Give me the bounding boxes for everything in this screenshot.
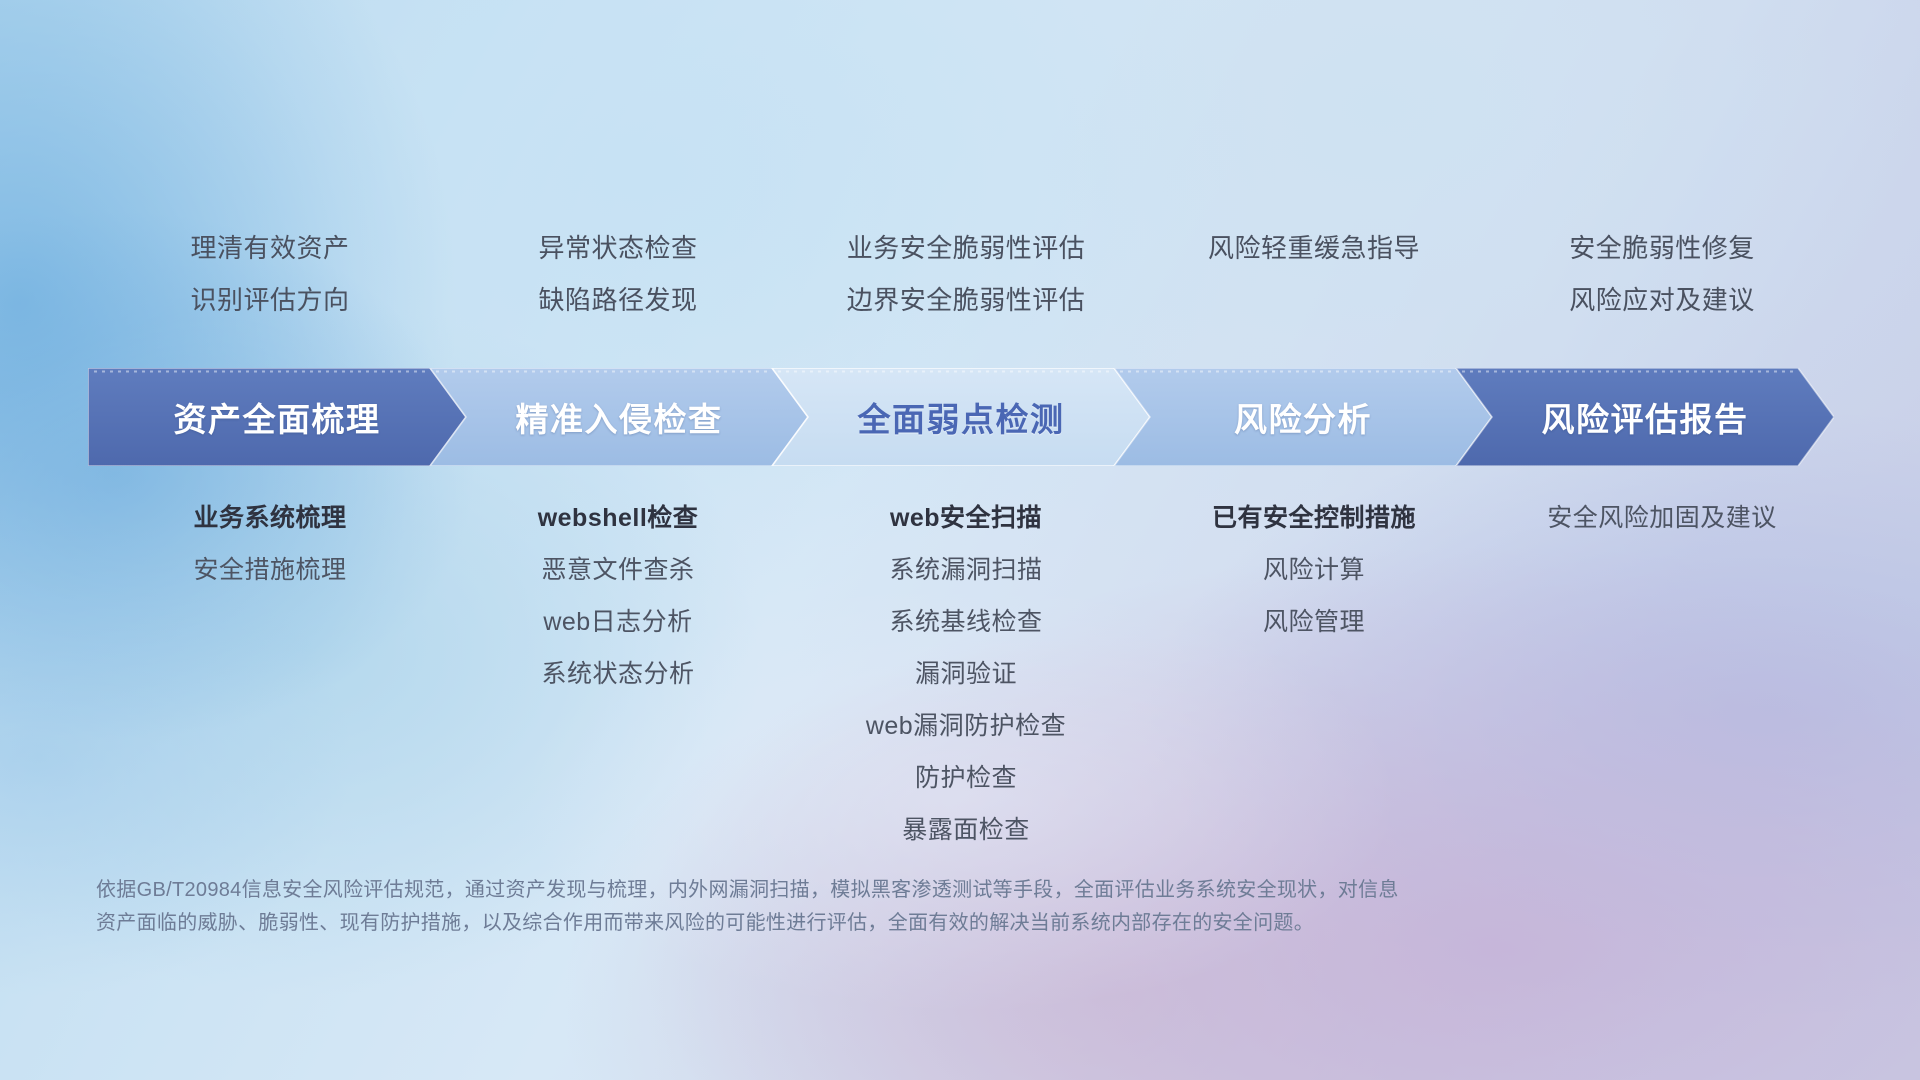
top-caption-item: 风险轻重缓急指导 (1140, 222, 1488, 274)
stage-risk-analysis[interactable]: 风险分析 (1114, 368, 1492, 466)
stage-label: 风险分析 (1234, 393, 1372, 441)
top-caption-item: 异常状态检查 (444, 222, 792, 274)
stage-label: 全面弱点检测 (858, 393, 1065, 441)
footer-description: 依据GB/T20984信息安全风险评估规范，通过资产发现与梳理，内外网漏洞扫描，… (96, 874, 1736, 940)
process-arrow-banner: 资产全面梳理精准入侵检查全面弱点检测风险分析风险评估报告 (88, 368, 1834, 466)
top-caption-weakness-detection: 业务安全脆弱性评估边界安全脆弱性评估 (792, 222, 1140, 326)
stage-label: 资产全面梳理 (174, 393, 381, 441)
top-caption-item: 理清有效资产 (96, 222, 444, 274)
stage-label: 风险评估报告 (1542, 393, 1749, 441)
stage-bottom-lists: 业务系统梳理安全措施梳理webshell检查恶意文件查杀web日志分析系统状态分… (96, 492, 1836, 856)
bottom-list-item: 系统基线检查 (792, 596, 1140, 648)
top-caption-item: 风险应对及建议 (1488, 274, 1836, 326)
bottom-list-item: webshell检查 (444, 492, 792, 544)
bottom-list-item: web安全扫描 (792, 492, 1140, 544)
footer-line-1: 依据GB/T20984信息安全风险评估规范，通过资产发现与梳理，内外网漏洞扫描，… (96, 874, 1736, 907)
stage-risk-report[interactable]: 风险评估报告 (1456, 368, 1834, 466)
top-caption-asset-inventory: 理清有效资产识别评估方向 (96, 222, 444, 326)
top-caption-item: 业务安全脆弱性评估 (792, 222, 1140, 274)
bottom-list-risk-report: 安全风险加固及建议 (1488, 492, 1836, 856)
stage-asset-inventory[interactable]: 资产全面梳理 (88, 368, 466, 466)
bottom-list-weakness-detection: web安全扫描系统漏洞扫描系统基线检查漏洞验证web漏洞防护检查防护检查暴露面检… (792, 492, 1140, 856)
bottom-list-item: 已有安全控制措施 (1140, 492, 1488, 544)
top-caption-item: 边界安全脆弱性评估 (792, 274, 1140, 326)
stage-weakness-detection[interactable]: 全面弱点检测 (772, 368, 1150, 466)
stage-top-captions: 理清有效资产识别评估方向异常状态检查缺陷路径发现业务安全脆弱性评估边界安全脆弱性… (96, 222, 1836, 326)
bottom-list-item: web漏洞防护检查 (792, 700, 1140, 752)
bottom-list-item: 系统漏洞扫描 (792, 544, 1140, 596)
bottom-list-item: 安全措施梳理 (96, 544, 444, 596)
bottom-list-intrusion-check: webshell检查恶意文件查杀web日志分析系统状态分析 (444, 492, 792, 856)
process-diagram: 理清有效资产识别评估方向异常状态检查缺陷路径发现业务安全脆弱性评估边界安全脆弱性… (0, 0, 1920, 1080)
bottom-list-item: 业务系统梳理 (96, 492, 444, 544)
bottom-list-item: 漏洞验证 (792, 648, 1140, 700)
top-caption-risk-report: 安全脆弱性修复风险应对及建议 (1488, 222, 1836, 326)
bottom-list-item: 恶意文件查杀 (444, 544, 792, 596)
bottom-list-item: web日志分析 (444, 596, 792, 648)
top-caption-item: 缺陷路径发现 (444, 274, 792, 326)
bottom-list-item: 风险计算 (1140, 544, 1488, 596)
top-caption-risk-analysis: 风险轻重缓急指导 (1140, 222, 1488, 326)
top-caption-intrusion-check: 异常状态检查缺陷路径发现 (444, 222, 792, 326)
bottom-list-item: 系统状态分析 (444, 648, 792, 700)
footer-line-2: 资产面临的威胁、脆弱性、现有防护措施，以及综合作用而带来风险的可能性进行评估，全… (96, 907, 1736, 940)
bottom-list-risk-analysis: 已有安全控制措施风险计算风险管理 (1140, 492, 1488, 856)
bottom-list-asset-inventory: 业务系统梳理安全措施梳理 (96, 492, 444, 856)
top-caption-item: 识别评估方向 (96, 274, 444, 326)
bottom-list-item: 暴露面检查 (792, 804, 1140, 856)
stage-label: 精准入侵检查 (516, 393, 723, 441)
bottom-list-item: 风险管理 (1140, 596, 1488, 648)
top-caption-item: 安全脆弱性修复 (1488, 222, 1836, 274)
bottom-list-item: 安全风险加固及建议 (1488, 492, 1836, 544)
bottom-list-item: 防护检查 (792, 752, 1140, 804)
stage-intrusion-check[interactable]: 精准入侵检查 (430, 368, 808, 466)
